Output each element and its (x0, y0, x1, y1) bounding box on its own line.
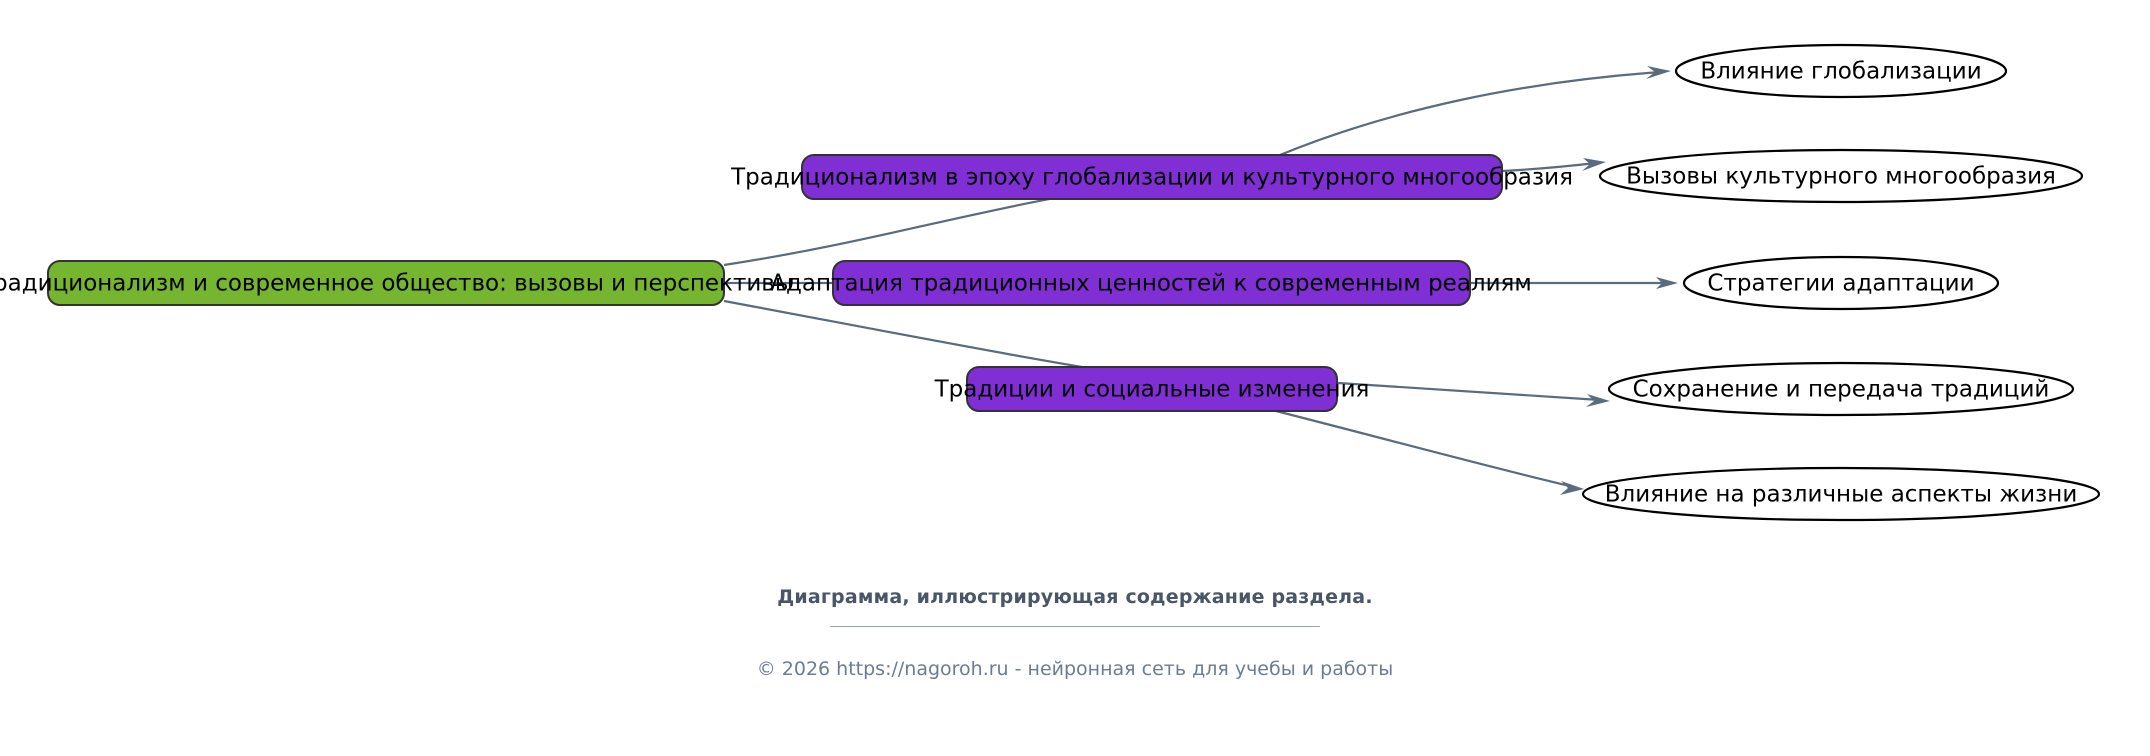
edge-branch3-leaf5-arrowhead (1560, 481, 1584, 495)
edge-branch3-leaf5 (1276, 411, 1584, 495)
node-branch-2-label: Адаптация традиционных ценностей к совре… (770, 271, 1532, 297)
node-root-label: Традиционализм и современное общество: в… (0, 271, 793, 297)
edge-branch3-leaf4 (1338, 383, 1610, 407)
node-branch-1-label: Традиционализм в эпоху глобализации и ку… (730, 165, 1573, 191)
edge-branch3-leaf5-path (1276, 411, 1574, 487)
diagram-caption: Диаграмма, иллюстрирующая содержание раз… (0, 586, 2150, 608)
node-branch-2[interactable]: Адаптация традиционных ценностей к совре… (770, 261, 1532, 305)
node-branch-3-label: Традиции и социальные изменения (934, 377, 1370, 403)
footer-copyright: © 2026 https://nagoroh.ru - нейронная се… (0, 658, 2150, 680)
node-branch-1[interactable]: Традиционализм в эпоху глобализации и ку… (730, 155, 1573, 199)
node-branch-3[interactable]: Традиции и социальные изменения (934, 367, 1370, 411)
caption-divider (830, 626, 1320, 627)
node-leaf-1-label: Влияние глобализации (1700, 59, 1981, 85)
diagram-canvas: Традиционализм и современное общество: в… (0, 0, 2150, 756)
node-leaf-3[interactable]: Стратегии адаптации (1684, 257, 1998, 309)
caption-block: Диаграмма, иллюстрирующая содержание раз… (0, 586, 2150, 627)
edge-branch1-leaf1-path (1280, 72, 1661, 155)
edge-branch3-leaf4-path (1338, 383, 1600, 400)
edge-branch3-leaf4-arrowhead (1586, 394, 1610, 407)
node-leaf-3-label: Стратегии адаптации (1707, 271, 1974, 297)
node-leaf-1[interactable]: Влияние глобализации (1676, 45, 2006, 97)
node-leaf-2[interactable]: Вызовы культурного многообразия (1600, 150, 2082, 202)
flowchart-graph: Традиционализм и современное общество: в… (0, 0, 2150, 756)
edge-branch1-leaf1 (1280, 66, 1671, 155)
node-layer: Традиционализм и современное общество: в… (0, 45, 2099, 520)
node-leaf-4[interactable]: Сохранение и передача традиций (1609, 363, 2073, 415)
node-leaf-2-label: Вызовы культурного многообразия (1626, 164, 2056, 190)
node-root[interactable]: Традиционализм и современное общество: в… (0, 261, 793, 305)
node-leaf-5[interactable]: Влияние на различные аспекты жизни (1583, 468, 2099, 520)
node-leaf-5-label: Влияние на различные аспекты жизни (1605, 482, 2078, 508)
node-leaf-4-label: Сохранение и передача традиций (1633, 377, 2050, 403)
